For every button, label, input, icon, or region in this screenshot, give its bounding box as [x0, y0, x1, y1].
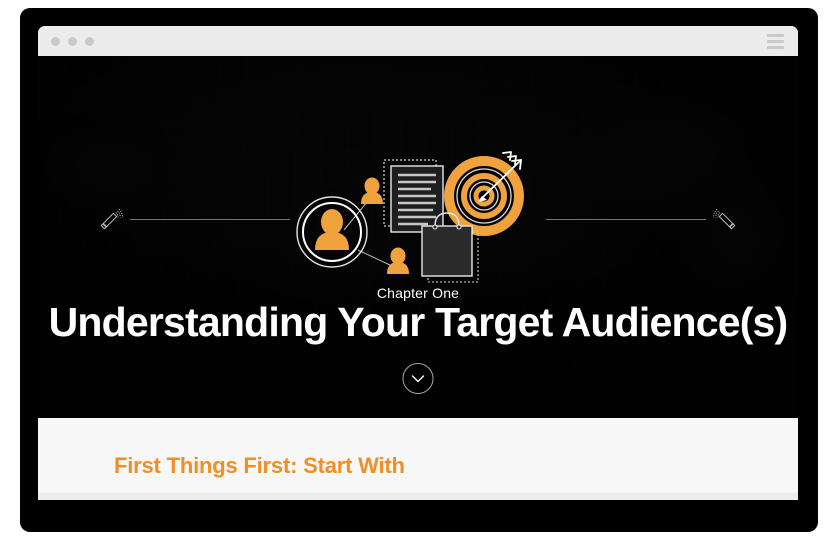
user-avatar-small-bottom-icon [387, 248, 409, 275]
scroll-down-button[interactable] [403, 363, 434, 394]
user-avatar-circle-icon [297, 197, 367, 267]
content-area: First Things First: Start With [38, 418, 798, 500]
zoom-dot-icon[interactable] [85, 37, 94, 46]
megaphone-icon [712, 206, 738, 232]
screenshot-root: Chapter One Understanding Your Target Au… [0, 0, 838, 540]
document-icon [384, 160, 443, 232]
hero-banner: Chapter One Understanding Your Target Au… [38, 56, 798, 418]
close-dot-icon[interactable] [51, 37, 60, 46]
chevron-down-icon [412, 375, 425, 383]
section-heading: First Things First: Start With [114, 453, 405, 479]
hero-decoration-right [546, 206, 738, 232]
browser-titlebar [38, 26, 798, 56]
target-audience-illustration [288, 144, 548, 294]
hero-decoration-left [98, 206, 290, 232]
target-bullseye-arrow-icon [449, 152, 521, 231]
page-title: Understanding Your Target Audience(s) [38, 299, 798, 346]
minimize-dot-icon[interactable] [68, 37, 77, 46]
user-avatar-small-top-icon [361, 178, 383, 205]
hamburger-menu-icon[interactable] [767, 34, 784, 49]
browser-window: Chapter One Understanding Your Target Au… [38, 26, 798, 500]
content-bottom-strip [38, 493, 798, 500]
traffic-light-dots [51, 37, 94, 46]
hero-rule-left [130, 219, 290, 220]
megaphone-icon [98, 206, 124, 232]
hero-rule-right [546, 219, 706, 220]
